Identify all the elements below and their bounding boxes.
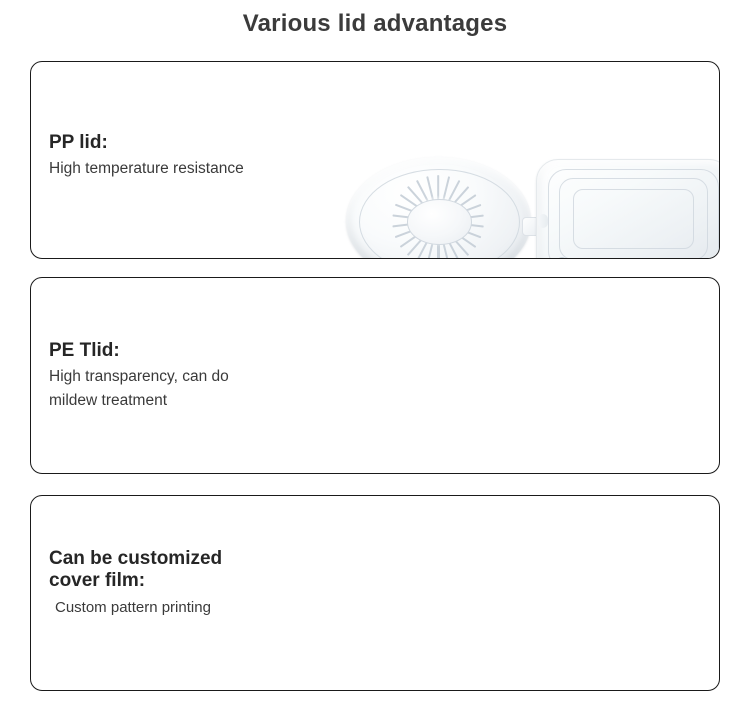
pe-tlid-heading: PE Tlid: [49, 340, 229, 362]
round-lid-center-hub [407, 199, 472, 245]
pe-tlid-subtext: High transparency, can do mildew treatme… [49, 365, 229, 413]
cover-film-subtext: Custom pattern printing [49, 596, 222, 619]
pp-lid-subtext: High temperature resistance [49, 157, 244, 181]
card-cover-film: Can be customized cover film: Custom pat… [30, 495, 720, 691]
rect-lid-ring-inner [573, 189, 694, 249]
pp-lid-heading: PP lid: [49, 132, 244, 154]
rectangular-pp-lid-image [536, 159, 720, 259]
card-pp-lid: PP lid: High temperature resistance [30, 61, 720, 259]
page-title: Various lid advantages [0, 10, 750, 38]
cover-film-text-block: Can be customized cover film: Custom pat… [49, 548, 222, 619]
pe-tlid-text-block: PE Tlid: High transparency, can do milde… [49, 340, 229, 413]
pp-lid-text-block: PP lid: High temperature resistance [49, 132, 244, 181]
cover-film-heading: Can be customized cover film: [49, 548, 222, 593]
rect-lid-notch [538, 214, 548, 228]
card-pe-tlid: PE Tlid: High transparency, can do milde… [30, 277, 720, 474]
round-pp-lid-image [346, 157, 531, 259]
